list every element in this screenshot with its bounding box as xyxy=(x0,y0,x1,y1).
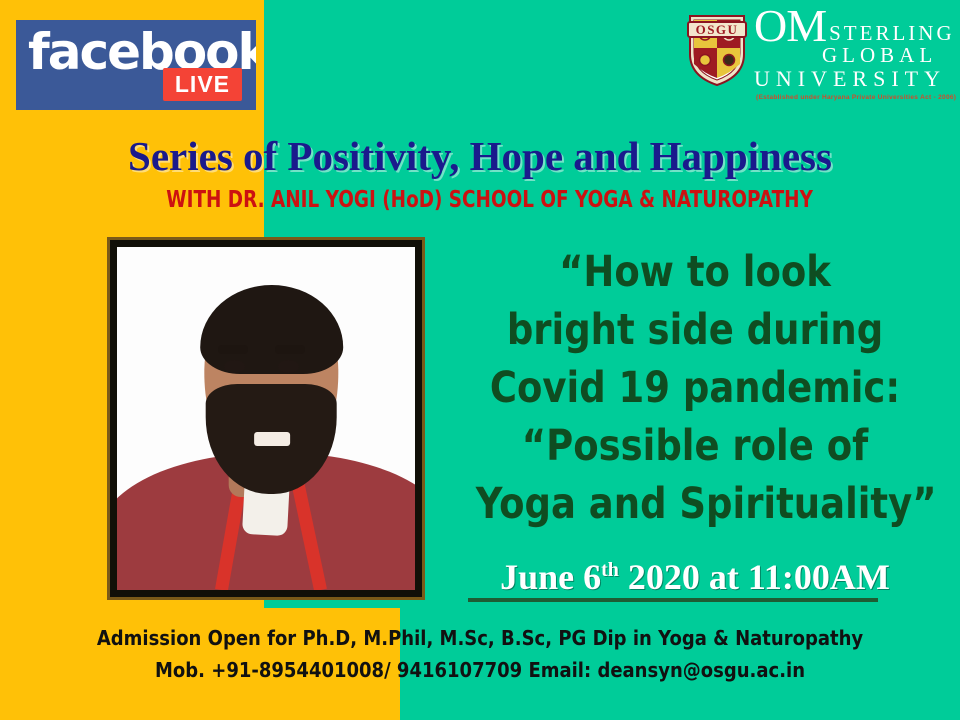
established-note: (Established under Haryana Private Unive… xyxy=(756,94,956,101)
topic-line-1: “How to look xyxy=(476,243,915,301)
svg-text:OSGU: OSGU xyxy=(696,22,739,37)
facebook-live-badge: facebook LIVE xyxy=(16,20,256,110)
photo-hair xyxy=(200,285,343,374)
photo-eye-left xyxy=(224,360,245,372)
topic-line-3: Covid 19 pandemic: xyxy=(476,359,915,417)
speaker-photo xyxy=(117,247,415,590)
photo-mouth xyxy=(254,432,290,446)
university-logo: OSGU OM STERLING GLOBAL UNIVERSITY (Esta… xyxy=(686,6,948,98)
photo-eyebrow-left xyxy=(218,345,248,354)
admission-line: Admission Open for Ph.D, M.Phil, M.Sc, B… xyxy=(48,622,912,654)
topic-line-4: “Possible role of xyxy=(476,417,915,475)
event-datetime-underline xyxy=(468,598,878,602)
university-name-line-1: OM STERLING xyxy=(754,6,956,46)
topic-line-2: bright side during xyxy=(476,301,915,359)
osgu-shield-icon: OSGU xyxy=(686,10,748,93)
contact-line: Mob. +91-8954401008/ 9416107709 Email: d… xyxy=(48,654,912,686)
university-text: UNIVERSITY xyxy=(754,67,956,91)
event-date-ordinal: th xyxy=(601,559,619,581)
om-text: OM xyxy=(754,6,826,46)
event-date-prefix: June 6 xyxy=(500,557,601,597)
speaker-photo-frame xyxy=(107,237,425,600)
page-title: Series of Positivity, Hope and Happiness xyxy=(0,132,960,180)
speaker-subtitle: WITH DR. ANIL YOGI (HoD) SCHOOL OF YOGA … xyxy=(96,186,864,214)
photo-eyebrow-right xyxy=(275,345,305,354)
event-date-suffix: 2020 at 11:00AM xyxy=(619,557,890,597)
university-name-block: OM STERLING GLOBAL UNIVERSITY (Establish… xyxy=(754,6,956,101)
poster-canvas: facebook LIVE OSGU OM STERL xyxy=(0,0,960,720)
live-badge-label: LIVE xyxy=(163,68,242,101)
topic-line-5: Yoga and Spirituality” xyxy=(476,475,915,533)
photo-eye-right xyxy=(278,360,299,372)
global-text: GLOBAL xyxy=(822,44,956,66)
topic-block: “How to look bright side during Covid 19… xyxy=(476,243,915,533)
event-datetime: June 6th 2020 at 11:00AM xyxy=(440,556,950,598)
footer-block: Admission Open for Ph.D, M.Phil, M.Sc, B… xyxy=(48,622,912,686)
